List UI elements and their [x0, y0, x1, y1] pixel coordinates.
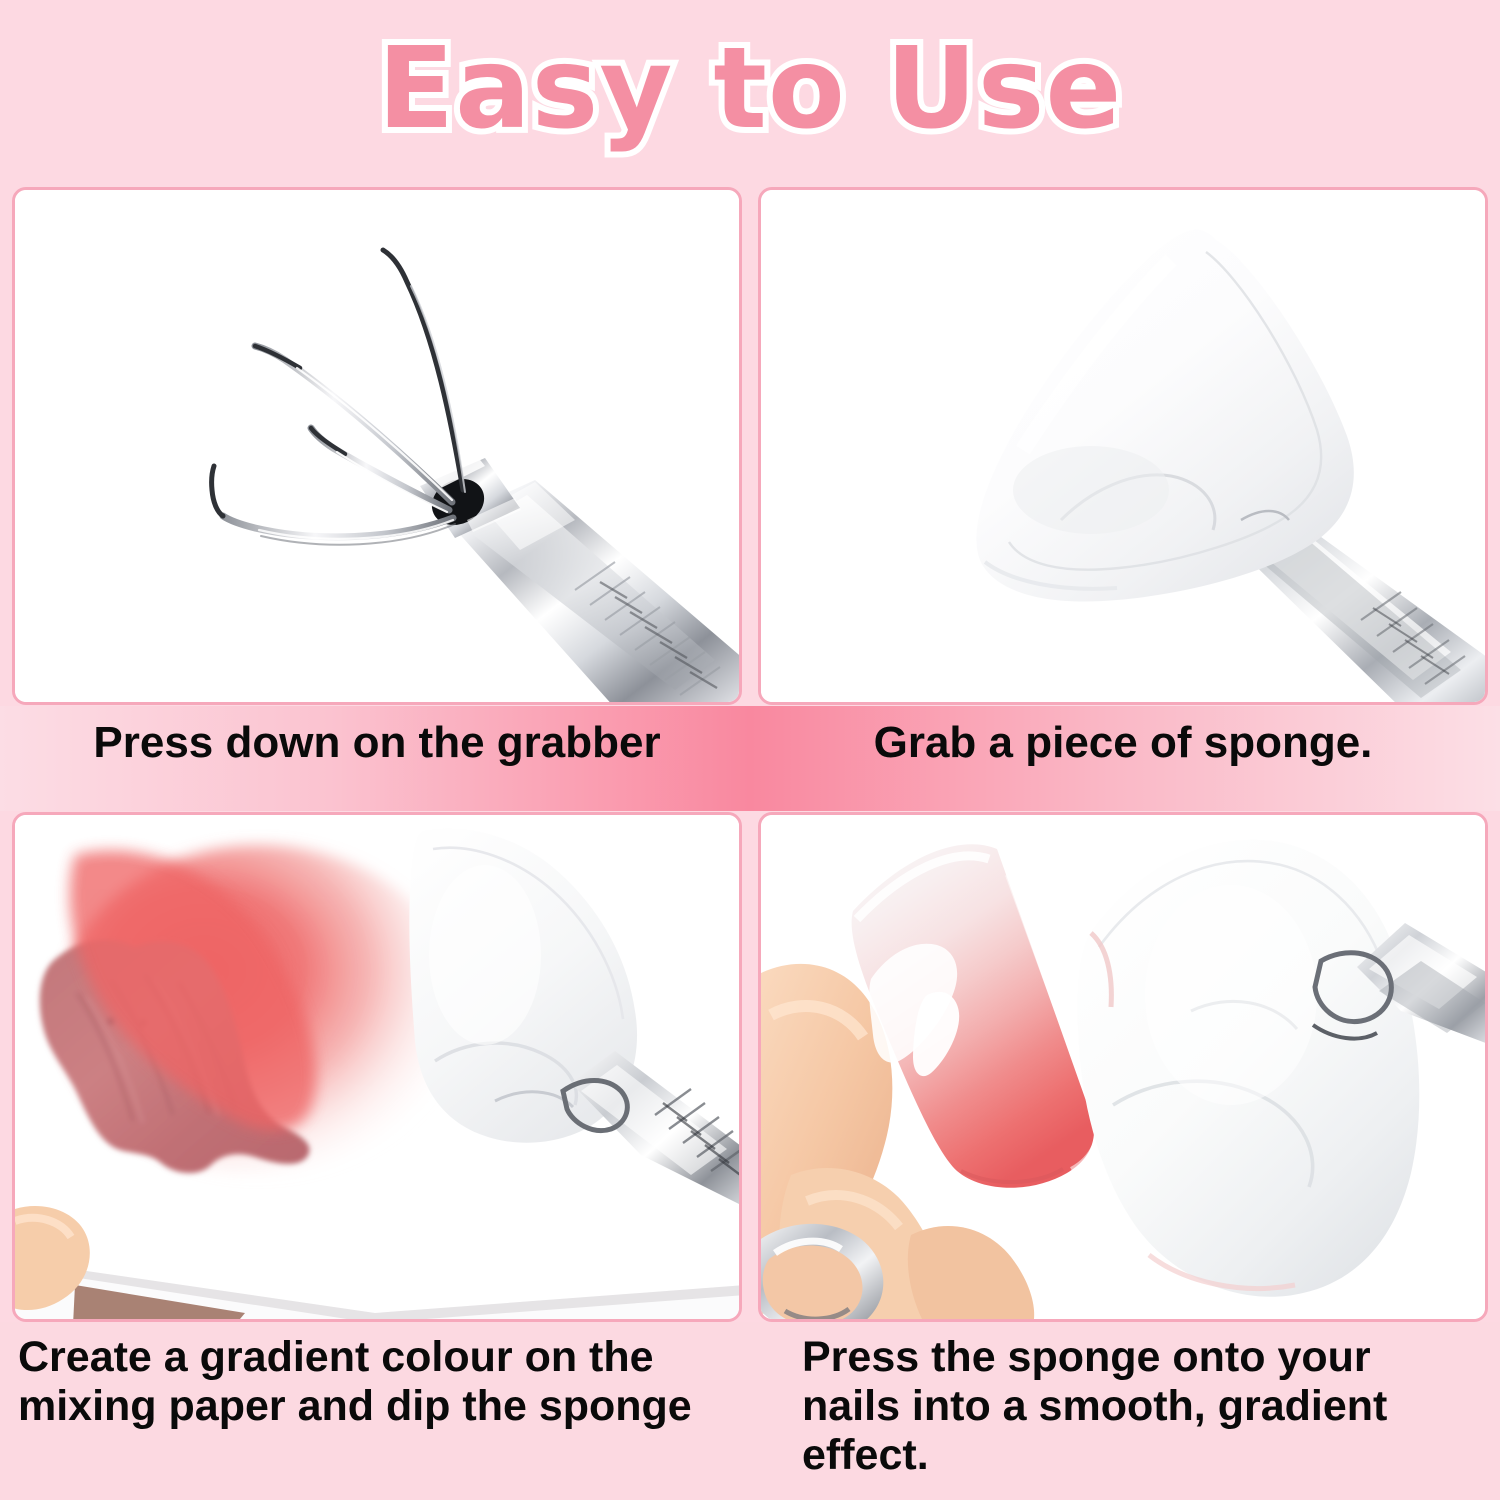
step-2-caption: Grab a piece of sponge.: [758, 718, 1488, 768]
step-2-image-panel: [758, 187, 1488, 705]
grabber-tool-photo: [15, 190, 739, 702]
step-1-image-panel: [12, 187, 742, 705]
step-3-caption: Create a gradient colour on the mixing p…: [18, 1333, 758, 1431]
page-title: Easy to Use: [378, 33, 1123, 145]
sponge-grab-photo: [761, 190, 1485, 702]
step-3-image-panel: [12, 812, 742, 1322]
grabber-tool-illustration: [15, 190, 739, 702]
nail-gradient-illustration: [761, 815, 1485, 1319]
mixing-paper-photo: [15, 815, 739, 1319]
sponge-grab-illustration: [761, 190, 1485, 702]
nail-gradient-photo: [761, 815, 1485, 1319]
step-1-caption: Press down on the grabber: [12, 718, 742, 768]
page-title-wrapper: Easy to Use: [0, 24, 1500, 154]
gradient-mixing-illustration: [15, 815, 739, 1319]
step-4-caption: Press the sponge onto your nails into a …: [802, 1333, 1500, 1480]
infographic-page: Easy to Use: [0, 0, 1500, 1500]
step-4-image-panel: [758, 812, 1488, 1322]
